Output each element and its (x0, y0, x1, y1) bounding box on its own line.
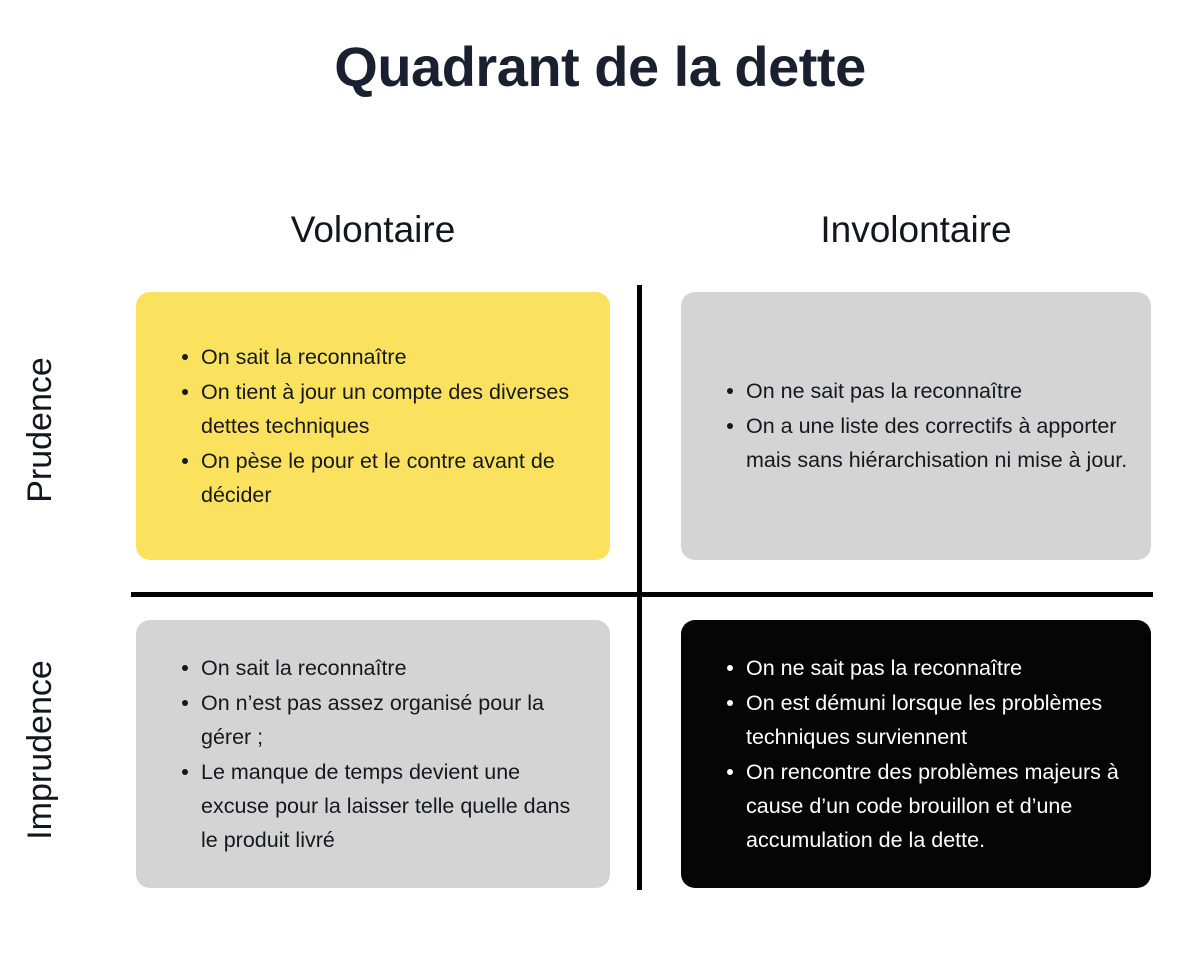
quadrant-list: On sait la reconnaîtreOn n’est pas assez… (136, 651, 610, 858)
divider-vertical (637, 285, 642, 890)
quadrant-card-imprudence-volontaire: On sait la reconnaîtreOn n’est pas assez… (136, 620, 610, 888)
quadrant-list-item: On sait la reconnaître (182, 651, 592, 685)
page-title: Quadrant de la dette (0, 36, 1200, 98)
quadrant-list: On sait la reconnaîtreOn tient à jour un… (136, 340, 610, 513)
quadrant-list-item: On ne sait pas la reconnaître (727, 651, 1133, 685)
quadrant-list-item: Le manque de temps devient une excuse po… (182, 755, 592, 857)
quadrant-list-item: On rencontre des problèmes majeurs à cau… (727, 755, 1133, 857)
quadrant-list-item: On n’est pas assez organisé pour la gére… (182, 686, 592, 754)
quadrant-list-item: On a une liste des correctifs à apporter… (727, 409, 1133, 477)
quadrant-list: On ne sait pas la reconnaîtreOn est dému… (681, 651, 1151, 858)
quadrant-card-prudence-volontaire: On sait la reconnaîtreOn tient à jour un… (136, 292, 610, 560)
column-header-involontaire: Involontaire (681, 208, 1151, 252)
column-header-volontaire: Volontaire (136, 208, 610, 252)
quadrant-card-prudence-involontaire: On ne sait pas la reconnaîtreOn a une li… (681, 292, 1151, 560)
quadrant-list-item: On ne sait pas la reconnaître (727, 374, 1133, 408)
divider-horizontal (131, 592, 1153, 597)
quadrant-list: On ne sait pas la reconnaîtreOn a une li… (681, 374, 1151, 478)
quadrant-list-item: On sait la reconnaître (182, 340, 592, 374)
quadrant-list-item: On est démuni lorsque les problèmes tech… (727, 686, 1133, 754)
quadrant-card-imprudence-involontaire: On ne sait pas la reconnaîtreOn est dému… (681, 620, 1151, 888)
quadrant-list-item: On tient à jour un compte des diverses d… (182, 375, 592, 443)
quadrant-list-item: On pèse le pour et le contre avant de dé… (182, 444, 592, 512)
